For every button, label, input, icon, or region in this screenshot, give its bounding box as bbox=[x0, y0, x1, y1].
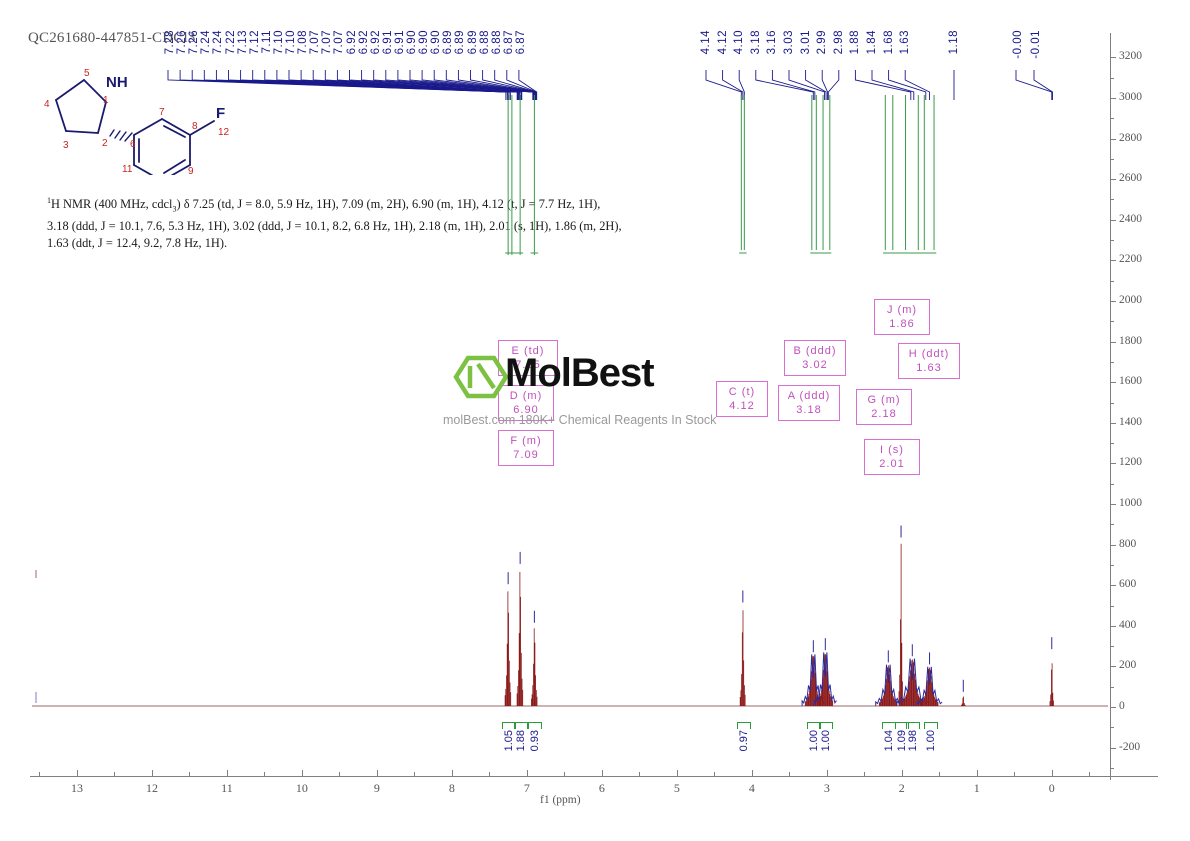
nmr-spectrum-trace bbox=[0, 0, 1190, 841]
integration-bracket bbox=[514, 722, 528, 729]
x-axis-tick bbox=[827, 770, 828, 776]
x-axis-minor-tick bbox=[1014, 772, 1015, 776]
x-axis-minor-tick bbox=[939, 772, 940, 776]
x-axis-minor-tick bbox=[564, 772, 565, 776]
x-axis-label: 10 bbox=[282, 781, 322, 796]
integration-value: 1.05 bbox=[503, 730, 515, 751]
x-axis-minor-tick bbox=[639, 772, 640, 776]
x-axis-tick bbox=[77, 770, 78, 776]
y-axis-label: 1600 bbox=[1119, 375, 1142, 387]
spectrum-peak-fill bbox=[517, 572, 523, 706]
x-axis-label: 2 bbox=[882, 781, 922, 796]
y-axis-line bbox=[1110, 33, 1111, 780]
x-axis-minor-tick bbox=[489, 772, 490, 776]
spectrum-peak-fill bbox=[962, 697, 966, 707]
x-axis-label: 8 bbox=[432, 781, 472, 796]
y-axis-label: 400 bbox=[1119, 619, 1136, 631]
integration-value: 0.97 bbox=[738, 730, 750, 751]
y-axis-tick bbox=[1110, 98, 1116, 99]
x-axis-tick bbox=[977, 770, 978, 776]
x-axis-minor-tick bbox=[114, 772, 115, 776]
y-axis-tick bbox=[1110, 57, 1116, 58]
y-axis-minor-tick bbox=[1110, 646, 1114, 647]
y-axis-minor-tick bbox=[1110, 199, 1114, 200]
spectrum-peak-fill bbox=[921, 668, 939, 707]
y-axis-tick bbox=[1110, 220, 1116, 221]
y-axis-label: 1800 bbox=[1119, 335, 1142, 347]
integration-bracket bbox=[528, 722, 542, 729]
y-axis-tick bbox=[1110, 748, 1116, 749]
x-axis-label: 3 bbox=[807, 781, 847, 796]
x-axis-label: 12 bbox=[132, 781, 172, 796]
y-axis-minor-tick bbox=[1110, 484, 1114, 485]
x-axis-label: 0 bbox=[1032, 781, 1072, 796]
integration-bracket bbox=[924, 722, 938, 729]
y-axis-label: 3200 bbox=[1119, 50, 1142, 62]
y-axis-minor-tick bbox=[1110, 727, 1114, 728]
y-axis-minor-tick bbox=[1110, 281, 1114, 282]
x-axis-label: 13 bbox=[57, 781, 97, 796]
x-axis-tick bbox=[602, 770, 603, 776]
x-axis-minor-tick bbox=[789, 772, 790, 776]
x-axis-minor-tick bbox=[39, 772, 40, 776]
x-axis-minor-tick bbox=[864, 772, 865, 776]
y-axis-label: 600 bbox=[1119, 578, 1136, 590]
y-axis-tick bbox=[1110, 504, 1116, 505]
integration-value: 1.98 bbox=[907, 730, 919, 751]
y-axis-label: 2200 bbox=[1119, 253, 1142, 265]
x-axis-tick bbox=[377, 770, 378, 776]
x-axis-label: 4 bbox=[732, 781, 772, 796]
x-axis-tick bbox=[677, 770, 678, 776]
y-axis-minor-tick bbox=[1110, 768, 1114, 769]
y-axis-tick bbox=[1110, 545, 1116, 546]
y-axis-minor-tick bbox=[1110, 321, 1114, 322]
y-axis-minor-tick bbox=[1110, 78, 1114, 79]
y-axis-label: 2400 bbox=[1119, 213, 1142, 225]
integration-bracket bbox=[906, 722, 920, 729]
integration-value: 1.00 bbox=[925, 730, 937, 751]
y-axis-minor-tick bbox=[1110, 687, 1114, 688]
y-axis-tick bbox=[1110, 301, 1116, 302]
y-axis-label: 2800 bbox=[1119, 132, 1142, 144]
y-axis-minor-tick bbox=[1110, 606, 1114, 607]
y-axis-tick bbox=[1110, 423, 1116, 424]
y-axis-tick bbox=[1110, 626, 1116, 627]
x-axis-tick bbox=[452, 770, 453, 776]
spectrum-peak-fill bbox=[1050, 663, 1054, 706]
y-axis-label: 1400 bbox=[1119, 416, 1142, 428]
y-axis-tick bbox=[1110, 139, 1116, 140]
y-axis-minor-tick bbox=[1110, 403, 1114, 404]
integration-value: 0.93 bbox=[529, 730, 541, 751]
integration-bracket bbox=[819, 722, 833, 729]
y-axis-label: 800 bbox=[1119, 538, 1136, 550]
x-axis-line bbox=[30, 776, 1158, 777]
y-axis-minor-tick bbox=[1110, 443, 1114, 444]
y-axis-minor-tick bbox=[1110, 565, 1114, 566]
integration-bracket bbox=[737, 722, 751, 729]
spectrum-peak-fill bbox=[879, 665, 897, 706]
x-axis-tick bbox=[302, 770, 303, 776]
y-axis-tick bbox=[1110, 179, 1116, 180]
x-axis-label: 1 bbox=[957, 781, 997, 796]
y-axis-label: -200 bbox=[1119, 741, 1140, 753]
x-axis-label: 5 bbox=[657, 781, 697, 796]
integration-value: 1.88 bbox=[515, 730, 527, 751]
x-axis-minor-tick bbox=[339, 772, 340, 776]
x-axis-minor-tick bbox=[1089, 772, 1090, 776]
x-axis-tick bbox=[1052, 770, 1053, 776]
spectrum-peak-fill bbox=[531, 628, 537, 706]
integration-value: 1.00 bbox=[808, 730, 820, 751]
x-axis-label: 9 bbox=[357, 781, 397, 796]
x-axis-title: f1 (ppm) bbox=[540, 794, 581, 806]
y-axis-minor-tick bbox=[1110, 362, 1114, 363]
y-axis-minor-tick bbox=[1110, 524, 1114, 525]
y-axis-tick bbox=[1110, 707, 1116, 708]
spectrum-peak-fill bbox=[817, 654, 832, 706]
x-axis-tick bbox=[902, 770, 903, 776]
y-axis-label: 1000 bbox=[1119, 497, 1142, 509]
y-axis-minor-tick bbox=[1110, 118, 1114, 119]
integration-value: 1.00 bbox=[820, 730, 832, 751]
y-axis-minor-tick bbox=[1110, 240, 1114, 241]
y-axis-tick bbox=[1110, 463, 1116, 464]
peak-leader-line-solvent bbox=[948, 70, 968, 102]
y-axis-label: 3000 bbox=[1119, 91, 1142, 103]
spectrum-peak-fill bbox=[899, 544, 903, 706]
y-axis-minor-tick bbox=[1110, 159, 1114, 160]
y-axis-tick bbox=[1110, 666, 1116, 667]
spectrum-peak-fill bbox=[740, 610, 745, 706]
y-axis-label: 2600 bbox=[1119, 172, 1142, 184]
x-axis-minor-tick bbox=[264, 772, 265, 776]
integration-value: 1.04 bbox=[883, 730, 895, 751]
spectrum-peak-fill bbox=[505, 591, 511, 706]
y-axis-label: 200 bbox=[1119, 659, 1136, 671]
x-axis-tick bbox=[527, 770, 528, 776]
spectrum-peak-fill bbox=[901, 660, 923, 707]
x-axis-tick bbox=[152, 770, 153, 776]
x-axis-tick bbox=[227, 770, 228, 776]
x-axis-minor-tick bbox=[189, 772, 190, 776]
x-axis-minor-tick bbox=[714, 772, 715, 776]
x-axis-label: 11 bbox=[207, 781, 247, 796]
y-axis-tick bbox=[1110, 382, 1116, 383]
y-axis-tick bbox=[1110, 585, 1116, 586]
x-axis-minor-tick bbox=[414, 772, 415, 776]
y-axis-tick bbox=[1110, 342, 1116, 343]
y-axis-label: 2000 bbox=[1119, 294, 1142, 306]
y-axis-label: 1200 bbox=[1119, 456, 1142, 468]
y-axis-tick bbox=[1110, 260, 1116, 261]
y-axis-label: 0 bbox=[1119, 700, 1125, 712]
x-axis-label: 6 bbox=[582, 781, 622, 796]
x-axis-tick bbox=[752, 770, 753, 776]
